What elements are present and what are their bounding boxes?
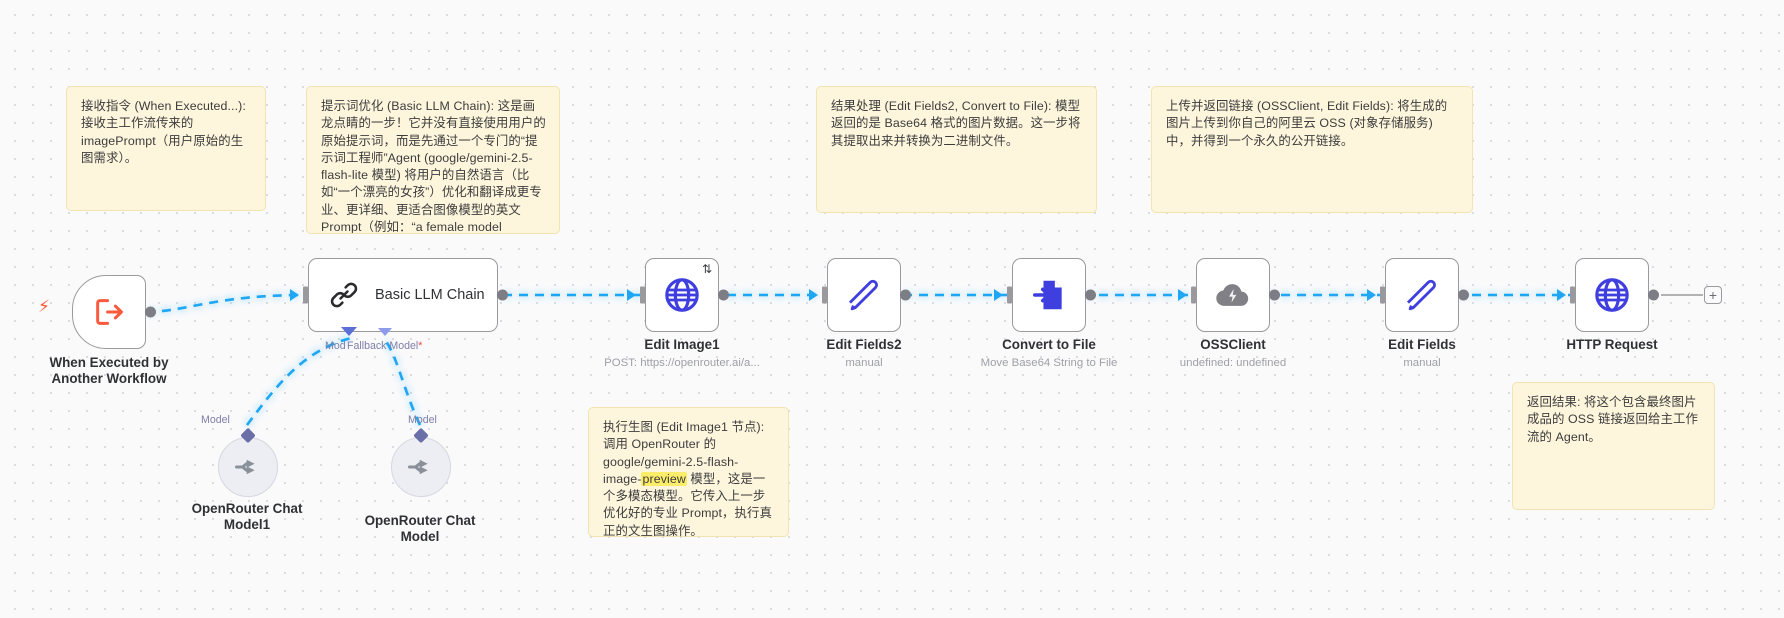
- pencil-icon: [1402, 275, 1442, 315]
- node-edit-fields[interactable]: Edit Fields manual: [1385, 258, 1459, 332]
- node-label: OSSClient: [1138, 337, 1328, 353]
- node-body[interactable]: [218, 437, 278, 497]
- execute-workflow-trigger-icon: [92, 295, 126, 329]
- output-port[interactable]: [145, 307, 156, 318]
- node-subtitle: Move Base64 String to File: [942, 356, 1157, 370]
- input-arrow-icon: [1178, 289, 1187, 301]
- model-connector-caret[interactable]: [341, 327, 357, 336]
- input-port[interactable]: [822, 287, 827, 304]
- node-subtitle: manual: [757, 356, 972, 370]
- required-marker: *: [418, 340, 422, 352]
- openrouter-icon: [232, 451, 264, 483]
- output-port[interactable]: [1085, 290, 1096, 301]
- node-label: When Executed by Another Workflow: [14, 355, 204, 386]
- node-edit-fields2[interactable]: Edit Fields2 manual: [827, 258, 901, 332]
- globe-icon: [662, 275, 702, 315]
- sticky-note-upload[interactable]: 上传并返回链接 (OSSClient, Edit Fields): 将生成的图片…: [1151, 86, 1473, 213]
- add-node-label: +: [1709, 288, 1717, 302]
- node-body[interactable]: ⇅: [645, 258, 719, 332]
- node-body[interactable]: [827, 258, 901, 332]
- node-label: Convert to File: [954, 337, 1144, 353]
- file-import-icon: [1030, 276, 1068, 314]
- sticky-note-return-result[interactable]: 返回结果: 将这个包含最终图片成品的 OSS 链接返回给主工作流的 Agent。: [1512, 382, 1715, 510]
- sticky-note-result-process[interactable]: 结果处理 (Edit Fields2, Convert to File): 模型…: [816, 86, 1097, 213]
- connector-label-fallback-model: Fallback Model*: [347, 340, 422, 352]
- chain-link-icon: [328, 279, 360, 311]
- node-body[interactable]: [1012, 258, 1086, 332]
- node-subtitle: manual: [1315, 356, 1530, 370]
- output-port[interactable]: [1269, 290, 1280, 301]
- connector-label-model-2: Model: [408, 414, 437, 426]
- connector-label-model-text: Mod: [325, 340, 346, 352]
- retry-icon: ⇅: [702, 263, 712, 275]
- connector-label-model-2-text: Model: [408, 414, 437, 426]
- sticky-note-prompt-optimize[interactable]: 提示词优化 (Basic LLM Chain): 这是画龙点睛的一步！它并没有直…: [306, 86, 560, 234]
- node-edit-image1[interactable]: ⇅ Edit Image1 POST: https://openrouter.a…: [645, 258, 719, 332]
- model-connection-diamond[interactable]: [413, 428, 429, 444]
- node-subtitle: undefined: undefined: [1126, 356, 1341, 370]
- node-label: HTTP Request: [1517, 337, 1707, 353]
- node-label: Edit Fields: [1327, 337, 1517, 353]
- node-label: OpenRouter Chat Model: [330, 513, 510, 545]
- sticky-note-return-result-text: 返回结果: 将这个包含最终图片成品的 OSS 链接返回给主工作流的 Agent。: [1527, 395, 1698, 444]
- output-port[interactable]: [900, 290, 911, 301]
- output-port[interactable]: [1648, 290, 1659, 301]
- output-port[interactable]: [1458, 290, 1469, 301]
- input-port[interactable]: [640, 287, 645, 304]
- pencil-icon: [844, 275, 884, 315]
- input-arrow-icon: [809, 289, 818, 301]
- input-port[interactable]: [1191, 287, 1196, 304]
- cloud-upload-icon: [1213, 275, 1253, 315]
- input-arrow-icon: [994, 289, 1003, 301]
- sticky-note-upload-text: 上传并返回链接 (OSSClient, Edit Fields): 将生成的图片…: [1166, 99, 1447, 148]
- input-port[interactable]: [1570, 287, 1575, 304]
- node-body[interactable]: [1385, 258, 1459, 332]
- node-label: OpenRouter Chat Model1: [157, 501, 337, 533]
- input-arrow-icon: [627, 289, 636, 301]
- workflow-canvas[interactable]: 接收指令 (When Executed...): 接收主工作流传来的 image…: [0, 0, 1784, 618]
- node-body[interactable]: [1196, 258, 1270, 332]
- connector-label-model-1-text: Model: [201, 414, 230, 426]
- sticky-note-exec-image-highlight: preview: [641, 472, 686, 486]
- input-arrow-icon: [1367, 289, 1376, 301]
- node-body[interactable]: [391, 437, 451, 497]
- node-openrouter-chat-model1[interactable]: Model OpenRouter Chat Model1: [218, 437, 278, 497]
- input-arrow-icon: [1557, 289, 1566, 301]
- openrouter-icon: [405, 451, 437, 483]
- sticky-note-exec-image[interactable]: 执行生图 (Edit Image1 节点): 调用 OpenRouter 的 g…: [588, 407, 789, 537]
- sticky-note-receive[interactable]: 接收指令 (When Executed...): 接收主工作流传来的 image…: [66, 86, 266, 211]
- node-openrouter-chat-model[interactable]: Model OpenRouter Chat Model: [391, 437, 451, 497]
- globe-icon: [1592, 275, 1632, 315]
- node-label: Edit Fields2: [769, 337, 959, 353]
- connector-label-model-1: Model: [201, 414, 230, 426]
- model-connection-diamond[interactable]: [240, 428, 256, 444]
- node-body[interactable]: Basic LLM Chain: [308, 258, 498, 332]
- input-arrow-icon: [290, 289, 299, 301]
- node-label: Edit Image1: [587, 337, 777, 353]
- node-convert-to-file[interactable]: Convert to File Move Base64 String to Fi…: [1012, 258, 1086, 332]
- node-label: Basic LLM Chain: [375, 287, 485, 303]
- output-port[interactable]: [718, 290, 729, 301]
- input-port[interactable]: [1380, 287, 1385, 304]
- input-port[interactable]: [1007, 287, 1012, 304]
- node-http-request[interactable]: HTTP Request: [1575, 258, 1649, 332]
- connector-label-model: Mod: [325, 340, 346, 352]
- sticky-note-result-process-text: 结果处理 (Edit Fields2, Convert to File): 模型…: [831, 99, 1081, 148]
- node-when-executed-by-another-workflow[interactable]: ⚡ When Executed by Another Workflow: [72, 275, 146, 349]
- sticky-note-receive-text: 接收指令 (When Executed...): 接收主工作流传来的 image…: [81, 99, 246, 165]
- node-body[interactable]: [1575, 258, 1649, 332]
- output-port[interactable]: [497, 290, 508, 301]
- node-basic-llm-chain[interactable]: Basic LLM Chain Mod Fallback Model*: [308, 258, 498, 332]
- fallback-model-connector-caret[interactable]: [378, 328, 392, 336]
- add-node-button[interactable]: +: [1704, 286, 1722, 304]
- trigger-bolt-icon: ⚡: [38, 297, 50, 317]
- node-body[interactable]: [72, 275, 146, 349]
- connector-label-fallback-model-text: Fallback Model: [347, 340, 418, 352]
- sticky-note-prompt-optimize-text: 提示词优化 (Basic LLM Chain): 这是画龙点睛的一步！它并没有直…: [321, 99, 546, 234]
- node-ossclient[interactable]: OSSClient undefined: undefined: [1196, 258, 1270, 332]
- input-port[interactable]: [303, 287, 308, 304]
